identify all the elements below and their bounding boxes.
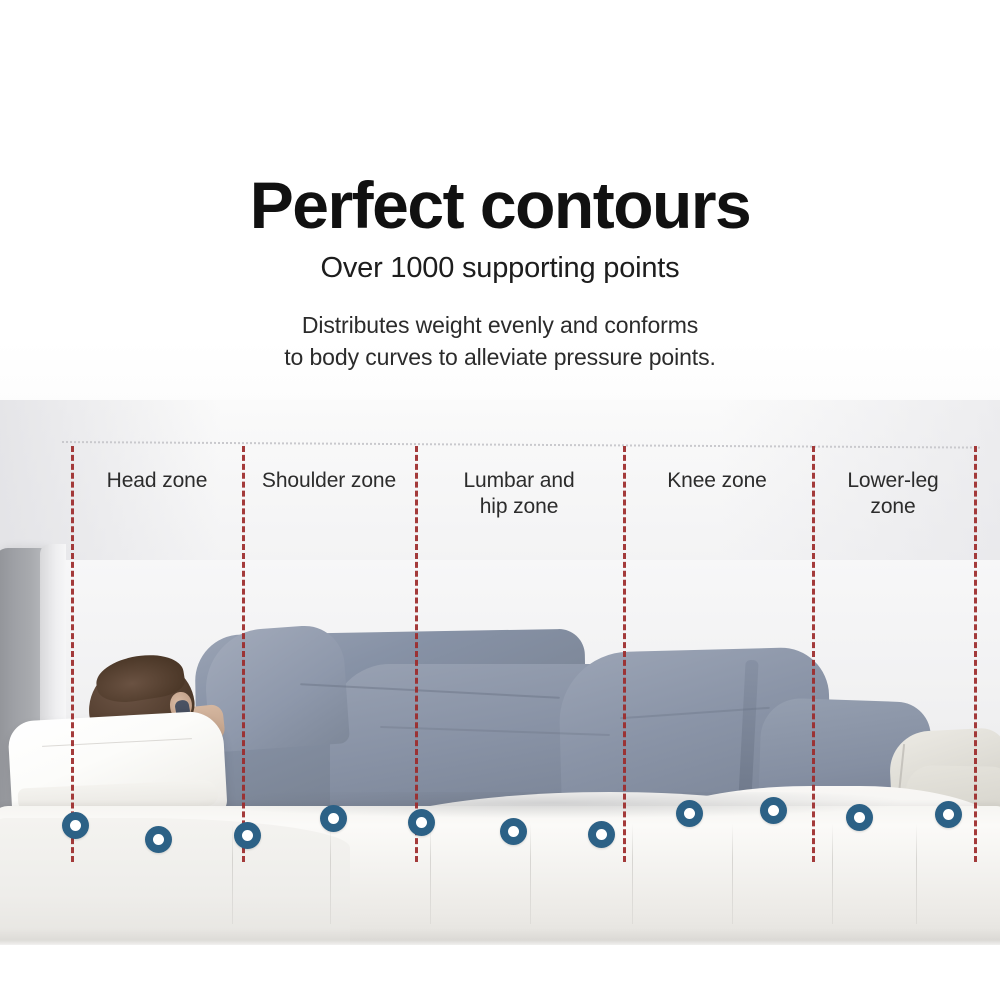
zone-label-line: hip zone (419, 494, 619, 520)
subtitle: Over 1000 supporting points (0, 252, 1000, 285)
mattress-seam (232, 824, 233, 924)
support-point-marker (500, 818, 527, 845)
zone-label-lower-leg-zone: Lower-legzone (813, 468, 973, 521)
mattress-seam (732, 824, 733, 924)
body-copy-line-2: to body curves to alleviate pressure poi… (0, 342, 1000, 374)
zone-label-line: zone (813, 494, 973, 520)
mattress-seam (330, 824, 331, 924)
mattress-seam (832, 824, 833, 924)
divider-4 (623, 446, 626, 862)
support-point-marker (676, 800, 703, 827)
mattress-seam (530, 824, 531, 924)
mattress-seam (430, 824, 431, 924)
mattress-base-shadow (0, 928, 1000, 945)
zone-label-lumbar-hip-zone: Lumbar andhip zone (419, 468, 619, 521)
zone-label-shoulder-zone: Shoulder zone (239, 468, 419, 494)
support-point-marker (145, 826, 172, 853)
zone-label-line: Lumbar and (419, 468, 619, 494)
zone-label-head-zone: Head zone (77, 468, 237, 494)
divider-6 (974, 446, 977, 862)
divider-1 (71, 446, 74, 862)
zone-label-line: Knee zone (632, 468, 802, 494)
body-copy-line-1: Distributes weight evenly and conforms (0, 310, 1000, 342)
zone-label-line: Lower-leg (813, 468, 973, 494)
body-copy: Distributes weight evenly and conforms t… (0, 310, 1000, 373)
divider-3 (415, 446, 418, 862)
mattress-left-section (0, 818, 350, 945)
zone-label-line: Shoulder zone (239, 468, 419, 494)
support-point-marker (846, 804, 873, 831)
support-point-marker (320, 805, 347, 832)
support-point-marker (234, 822, 261, 849)
zone-label-line: Head zone (77, 468, 237, 494)
support-point-marker (408, 809, 435, 836)
mattress-seam (632, 824, 633, 924)
mattress-seam (916, 824, 917, 924)
support-point-marker (62, 812, 89, 839)
support-point-marker (935, 801, 962, 828)
support-point-marker (760, 797, 787, 824)
zone-label-knee-zone: Knee zone (632, 468, 802, 494)
page-title: Perfect contours (0, 172, 1000, 238)
support-point-marker (588, 821, 615, 848)
divider-2 (242, 446, 245, 862)
infographic-canvas: Perfect contours Over 1000 supporting po… (0, 0, 1000, 1000)
body-shadow (200, 792, 900, 818)
